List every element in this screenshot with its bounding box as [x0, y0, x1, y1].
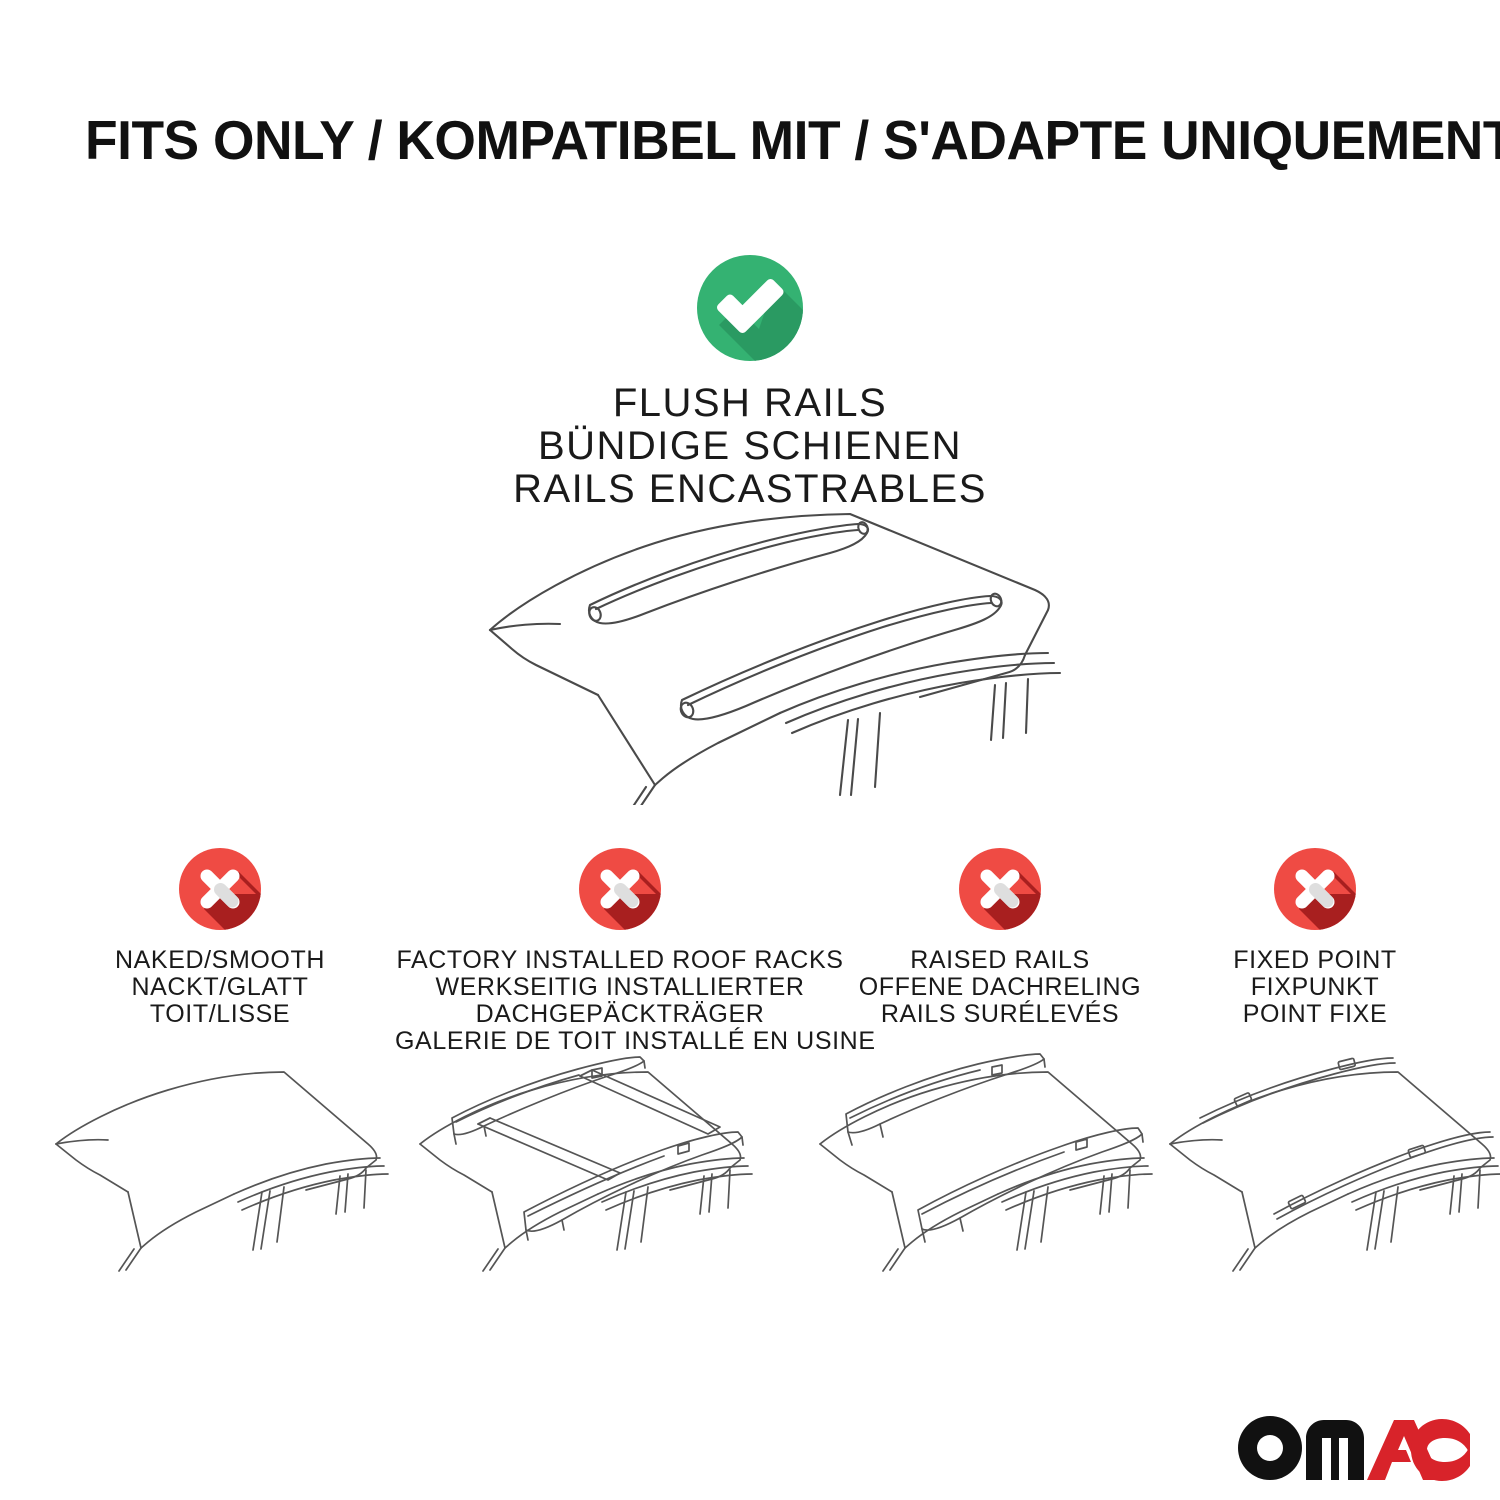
rejected-label-line-1: FIXED POINT [1160, 947, 1470, 974]
rejected-label-line-3: TOIT/LISSE [60, 1001, 380, 1028]
x-circle-icon [1274, 848, 1356, 930]
x-circle-icon [959, 848, 1041, 930]
rejected-label-line-1: RAISED RAILS [830, 947, 1170, 974]
car-roof-with-fixed-points-illustration [1162, 1052, 1500, 1282]
x-circle-icon [179, 848, 261, 930]
page-title: FITS ONLY / KOMPATIBEL MIT / S'ADAPTE UN… [85, 108, 1404, 172]
check-circle-icon [697, 255, 803, 361]
rejected-item-naked-smooth: NAKED/SMOOTH NACKT/GLATT TOIT/LISSE [60, 848, 380, 1028]
rejected-label-line-3: POINT FIXE [1160, 1001, 1470, 1028]
rejected-item-raised-rails: RAISED RAILS OFFENE DACHRELING RAILS SUR… [830, 848, 1170, 1028]
rejected-label-line-3: RAILS SURÉLEVÉS [830, 1001, 1170, 1028]
omac-logo [1238, 1412, 1470, 1484]
rejected-label-line-2: NACKT/GLATT [60, 974, 380, 1001]
rejected-label-line-2: FIXPUNKT [1160, 974, 1470, 1001]
rejected-label-raised-rails: RAISED RAILS OFFENE DACHRELING RAILS SUR… [830, 947, 1170, 1028]
omac-logo-letter-c [1411, 1419, 1470, 1481]
x-circle-icon [579, 848, 661, 930]
rejected-label-line-4: GALERIE DE TOIT INSTALLÉ EN USINE [395, 1028, 845, 1055]
approved-label-line-2: BÜNDIGE SCHIENEN [0, 425, 1500, 468]
rejected-item-fixed-point: FIXED POINT FIXPUNKT POINT FIXE [1160, 848, 1470, 1028]
rejected-label-line-2: WERKSEITIG INSTALLIERTER [395, 974, 845, 1001]
approved-section: FLUSH RAILS BÜNDIGE SCHIENEN RAILS ENCAS… [0, 255, 1500, 511]
rejected-label-line-2: OFFENE DACHRELING [830, 974, 1170, 1001]
rejected-label-factory-roof-racks: FACTORY INSTALLED ROOF RACKS WERKSEITIG … [395, 947, 845, 1055]
car-roof-with-factory-crossbars-illustration [412, 1052, 762, 1282]
omac-logo-letter-m [1306, 1420, 1364, 1480]
approved-label: FLUSH RAILS BÜNDIGE SCHIENEN RAILS ENCAS… [0, 382, 1500, 511]
omac-logo-letter-o [1238, 1416, 1302, 1480]
rejected-label-line-1: FACTORY INSTALLED ROOF RACKS [395, 947, 845, 974]
rejected-label-line-3: DACHGEPÄCKTRÄGER [395, 1001, 845, 1028]
car-roof-with-flush-rails-illustration [450, 495, 1080, 805]
rejected-label-line-1: NAKED/SMOOTH [60, 947, 380, 974]
rejected-label-fixed-point: FIXED POINT FIXPUNKT POINT FIXE [1160, 947, 1470, 1028]
approved-label-line-1: FLUSH RAILS [0, 382, 1500, 425]
car-roof-naked-smooth-illustration [48, 1052, 398, 1282]
car-roof-with-raised-rails-illustration [812, 1052, 1162, 1282]
rejected-label-naked-smooth: NAKED/SMOOTH NACKT/GLATT TOIT/LISSE [60, 947, 380, 1028]
rejected-item-factory-roof-racks: FACTORY INSTALLED ROOF RACKS WERKSEITIG … [395, 848, 845, 1055]
